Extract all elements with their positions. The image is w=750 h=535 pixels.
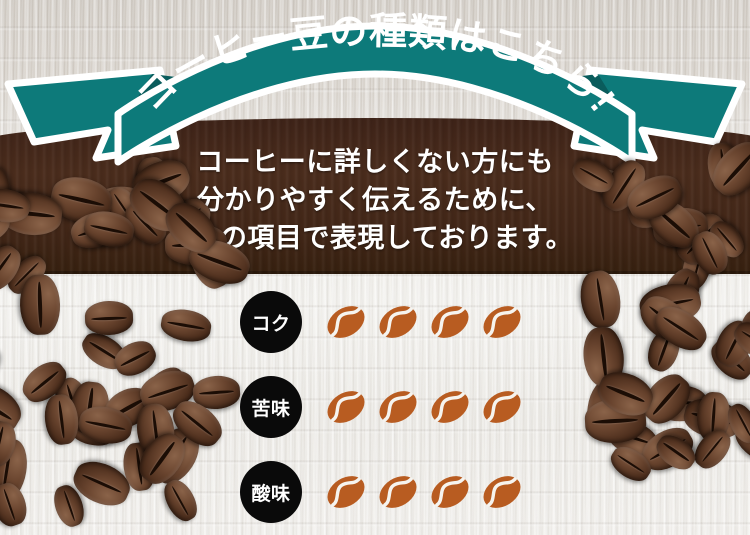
bean-filled-icon: [480, 385, 524, 429]
rating-badge: コク: [240, 291, 302, 353]
rating-list: コク 苦味 酸味: [240, 291, 532, 535]
headline-line-1: コーヒーに詳しくない方にも: [0, 143, 750, 181]
bean-filled-icon: [480, 300, 524, 344]
rating-row: コク: [240, 291, 532, 353]
bean-filled-icon: [428, 300, 472, 344]
bean-filled-icon: [376, 300, 420, 344]
rating-beans: [324, 470, 532, 514]
headline-line-3: 3つの項目で表現しております。: [0, 219, 750, 257]
rating-row: 苦味: [240, 376, 532, 438]
headline-line-2: 分かりやすく伝えるために、: [0, 181, 750, 219]
ribbon-main-band: [118, 26, 632, 162]
bean-filled-icon: [324, 385, 368, 429]
headline-block: コーヒーに詳しくない方にも 分かりやすく伝えるために、 3つの項目で表現しており…: [0, 143, 750, 257]
rating-badge: 苦味: [240, 376, 302, 438]
rating-beans: [324, 300, 532, 344]
bean-filled-icon: [376, 385, 420, 429]
rating-badge: 酸味: [240, 461, 302, 523]
rating-row: 酸味: [240, 461, 532, 523]
coffee-bean-banner: コーヒー豆の種類はこちら! コーヒーに詳しくない方にも 分かりやすく伝えるために…: [0, 0, 750, 535]
bean-filled-icon: [324, 470, 368, 514]
rating-beans: [324, 385, 532, 429]
bean-filled-icon: [480, 470, 524, 514]
bean-filled-icon: [428, 385, 472, 429]
bean-filled-icon: [324, 300, 368, 344]
bean-filled-icon: [376, 470, 420, 514]
bean-filled-icon: [428, 470, 472, 514]
